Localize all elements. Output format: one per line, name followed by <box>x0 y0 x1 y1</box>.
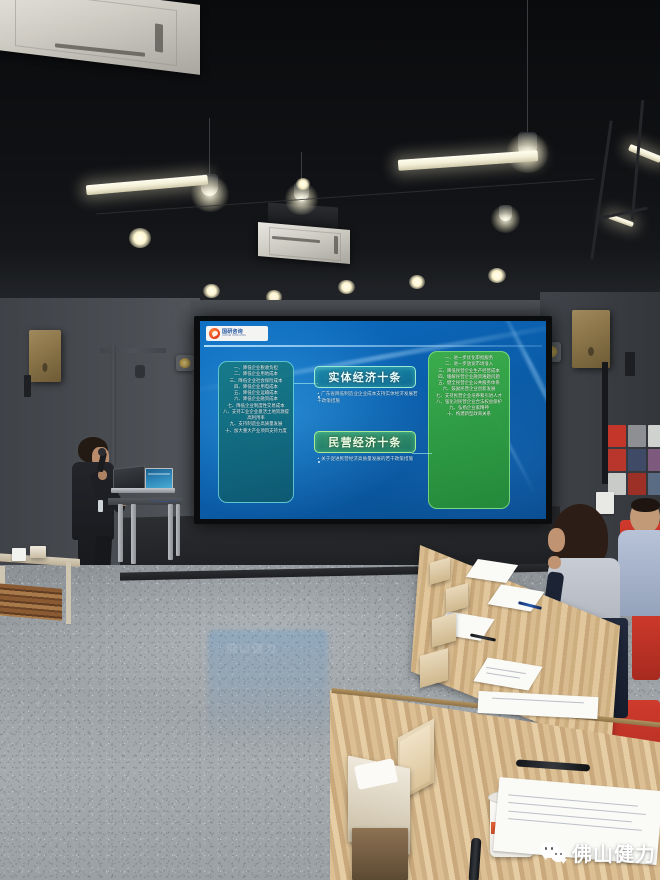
list-item: 六、鼓励民营企业创新发展 <box>432 387 506 393</box>
title-box-private-economy: 民营经济十条 <box>314 431 416 453</box>
attendee-woman-face <box>548 528 565 552</box>
attendee-man-hair <box>631 498 660 512</box>
watermark-text: 佛山健力 <box>572 838 656 867</box>
private-economy-panel: 一、进一步优化审批服务 二、进一步放宽市场准入 三、降低民营企业生产经营成本 四… <box>428 351 510 509</box>
downlight <box>338 280 355 294</box>
speaker-mount-right <box>625 352 635 376</box>
microphone-head <box>98 448 106 456</box>
wood-slat-panel <box>0 583 62 621</box>
subtitle-real-economy: • 广东省降低制造业企业成本支持实体经济发展若干政策措施 <box>317 392 419 405</box>
center-watermark: 佛山健力 <box>226 640 278 656</box>
list-item: 十、加大重大产业项目支持力度 <box>222 429 290 435</box>
wall-pipe <box>110 345 116 465</box>
wall-beam <box>100 348 166 353</box>
pendant-wire <box>209 118 210 176</box>
title-text: 民营经济十条 <box>328 434 401 450</box>
attendee-woman-hand <box>548 556 561 569</box>
ac-vent-center <box>334 236 338 254</box>
logo-mark-icon <box>209 328 220 339</box>
list-item: 七、降低企业制度性交易成本 <box>222 404 290 410</box>
wechat-bubble-tail-2 <box>561 859 567 864</box>
wechat-icon <box>540 842 566 863</box>
projection-screen: 国研咨询 GUOYAN CONSULTING 一、降低企业税收负担 二、降低企业… <box>200 321 546 519</box>
side-table-leg <box>66 562 71 624</box>
downlight <box>488 268 506 283</box>
poster <box>628 425 646 447</box>
attendee-man-body <box>618 530 660 616</box>
title-text: 实体经济十条 <box>328 369 401 385</box>
list-item: 三、降低民营企业生产经营成本 <box>432 369 506 375</box>
poster <box>648 449 660 471</box>
chair-red-lower[interactable] <box>632 610 660 680</box>
desk-leg <box>168 504 173 560</box>
poster-board <box>608 425 660 495</box>
conference-room-photo: 国研咨询 GUOYAN CONSULTING 一、降低企业税收负担 二、降低企业… <box>0 0 660 880</box>
private-economy-list: 一、进一步优化审批服务 二、进一步放宽市场准入 三、降低民营企业生产经营成本 四… <box>432 356 506 419</box>
desk-cable <box>148 493 180 502</box>
desk-leg <box>118 504 123 562</box>
presenter-lanyard <box>98 500 103 512</box>
side-table-card <box>12 548 26 561</box>
wechat-bubble-tail <box>542 855 548 860</box>
logo-underline <box>204 345 542 347</box>
wechat-watermark: 佛山健力 <box>540 838 656 867</box>
list-item: 十、构建新型政商关系 <box>432 412 506 418</box>
downlight <box>129 228 151 248</box>
speaker-mount <box>24 375 31 397</box>
wall-speaker-right <box>572 310 610 368</box>
list-item: 三、降低企业社会保险成本 <box>222 379 290 385</box>
wall-sensor <box>135 365 145 378</box>
title-box-real-economy: 实体经济十条 <box>314 366 416 388</box>
pendant-glow <box>490 205 521 233</box>
connector-line-right <box>412 453 432 454</box>
subtitle-private-economy: • 关于促进民营经济高质量发展的若干政策措施 <box>317 457 419 464</box>
downlight <box>203 284 220 298</box>
desk-leg <box>176 504 180 556</box>
list-item: 九、支持制造业高质量发展 <box>222 422 290 428</box>
list-item: 八、支持工业企业盘活土地资源提高利用率 <box>222 410 290 423</box>
downlight <box>296 178 310 190</box>
wall-clock-left <box>176 355 194 371</box>
poster <box>628 473 646 495</box>
poster <box>648 425 660 447</box>
ac-vent <box>155 23 163 52</box>
wall-notice <box>596 492 614 514</box>
pendant-wire <box>527 0 528 133</box>
real-economy-panel: 一、降低企业税收负担 二、降低企业用地成本 三、降低企业社会保险成本 四、降低企… <box>218 361 294 503</box>
list-item: 七、支持民营企业培养和引进人才 <box>432 394 506 400</box>
slide-logo: 国研咨询 GUOYAN CONSULTING <box>206 326 268 341</box>
desk-leg <box>131 504 136 564</box>
side-table-box <box>30 546 46 558</box>
poster <box>648 473 660 495</box>
poster <box>608 425 626 447</box>
downlight <box>409 275 425 289</box>
tissue-box-lower <box>352 828 408 880</box>
wall-speaker-left <box>29 330 61 382</box>
poster <box>628 449 646 471</box>
logo-subtext: GUOYAN CONSULTING <box>222 335 246 337</box>
real-economy-list: 一、降低企业税收负担 二、降低企业用地成本 三、降低企业社会保险成本 四、降低企… <box>222 366 290 435</box>
poster <box>608 449 626 471</box>
